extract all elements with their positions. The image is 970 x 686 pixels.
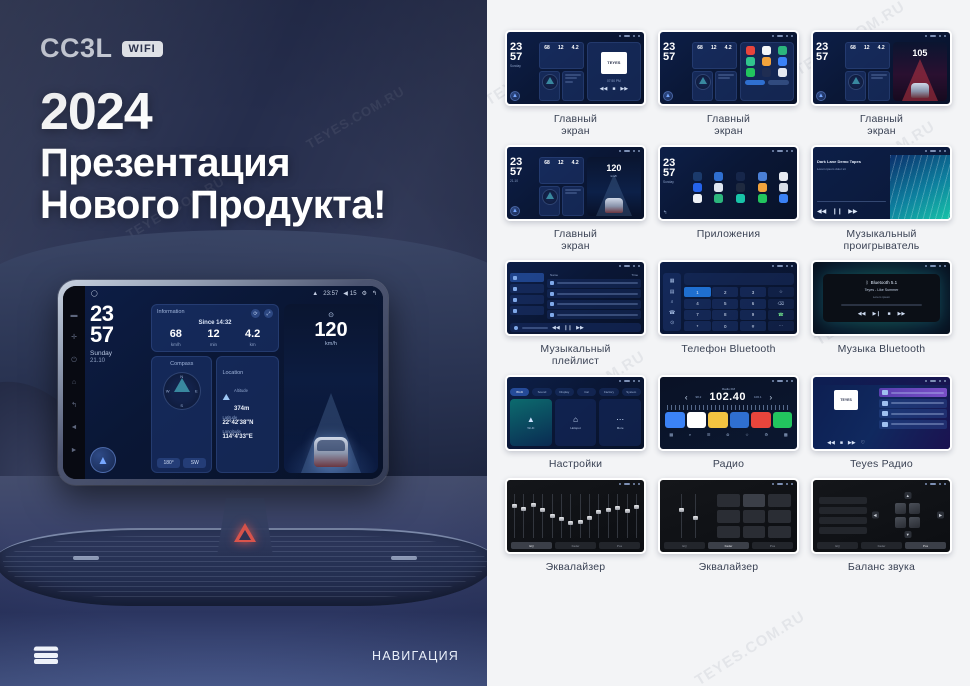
tab-sound[interactable]: Sound	[532, 388, 551, 396]
speed-panel[interactable]: ⊙ 120 km/h	[284, 304, 378, 473]
prev-station-button[interactable]: ‹	[685, 393, 688, 402]
eq-band[interactable]	[532, 494, 535, 538]
card-label: Wi-Fi	[527, 426, 534, 430]
option-row[interactable]	[819, 507, 867, 514]
tab-factory[interactable]: Factory	[599, 388, 618, 396]
thumb-clock-m: 57	[663, 168, 684, 178]
back-arrow-icon[interactable]: ↰	[372, 290, 377, 297]
left-frequency: 98.2	[695, 395, 701, 399]
preset-button[interactable]	[717, 494, 740, 507]
arrow-right-button[interactable]: ▶	[937, 512, 944, 519]
app-icon[interactable]	[762, 57, 771, 66]
arrow-up-button[interactable]: ▲	[904, 492, 911, 499]
screen-thumbnail-sound-balance[interactable]: ▲ ▼ ◀ ▶ EQ Fader Po	[811, 478, 952, 554]
app-icon[interactable]	[762, 68, 771, 77]
app-icon[interactable]	[778, 57, 787, 66]
plus-icon[interactable]: ✛	[71, 334, 77, 341]
gallery-item[interactable]: EQ Fader Pos Эквалайзер	[505, 478, 646, 575]
list-item[interactable]	[510, 295, 544, 304]
app-icon-music[interactable]	[736, 194, 745, 203]
clock-day: Sunday	[90, 350, 146, 357]
clock-minutes: 57	[90, 325, 146, 346]
eq-band[interactable]	[569, 494, 572, 538]
app-icon-clock[interactable]	[714, 183, 723, 192]
widgets-column: Information ⟳ ⤢ Since 14:32 68	[151, 304, 279, 473]
settings-card-wifi[interactable]: ▲ Wi-Fi	[510, 399, 552, 446]
prev-icon[interactable]: ◀◀	[827, 440, 835, 446]
gallery-item[interactable]: Wi-Fi Sound Display Car Factory System ▲…	[505, 375, 646, 472]
app-icon[interactable]	[762, 46, 771, 55]
search-icon[interactable]: ⌕	[689, 432, 691, 437]
screens-gallery-panel: TEYES.COM.RU TEYES.COM.RU TEYES.COM.RU T…	[487, 0, 970, 686]
list-item[interactable]	[510, 306, 544, 315]
tab-eq[interactable]: EQ	[817, 542, 858, 549]
stat-value: 4.2	[245, 329, 260, 340]
tab-car[interactable]: Car	[577, 388, 596, 396]
bottom-tab-bar[interactable]: EQ Fader Pos	[511, 542, 640, 549]
preset-stations[interactable]	[663, 412, 794, 428]
home-icon[interactable]: ⌂	[72, 379, 76, 386]
preset-tile[interactable]	[708, 412, 728, 428]
eq-band[interactable]	[560, 494, 563, 538]
dialpad-key[interactable]: 6	[740, 299, 766, 309]
app-icon-bluetooth[interactable]	[714, 172, 723, 181]
balance-options[interactable]	[819, 492, 867, 538]
prev-icon[interactable]: ◀◀	[817, 208, 826, 215]
thumb-date: 21.10	[510, 179, 536, 183]
power-icon[interactable]: ⏻	[71, 357, 77, 364]
preset-tile[interactable]	[773, 412, 793, 428]
compass-direction: SW	[183, 458, 206, 468]
thumb-day: Sunday	[663, 180, 684, 184]
screen-thumbnail-home-music[interactable]: 23 57 Sunday ▲ 68 12 4.2	[505, 30, 646, 106]
option-row[interactable]	[819, 527, 867, 534]
thumb-stat: 68	[544, 160, 550, 166]
dialpad-key[interactable]: 2	[712, 287, 738, 297]
eq-band[interactable]	[513, 494, 516, 538]
track-title: Dark Lane Demo Tapes	[817, 159, 886, 164]
refresh-icon[interactable]: ⟳	[251, 309, 260, 318]
stop-icon[interactable]: ■	[888, 311, 891, 317]
option-row[interactable]	[819, 497, 867, 504]
seat-front-left	[895, 503, 906, 514]
screen-thumbnail-playlist[interactable]: NameTime ◀◀ ❙❙ ▶▶	[505, 260, 646, 336]
station-list[interactable]	[879, 388, 947, 446]
vol-up-icon[interactable]: ►	[71, 447, 78, 454]
app-icon[interactable]	[746, 57, 755, 66]
table-row[interactable]	[547, 310, 641, 319]
settings-icon[interactable]: ⊙	[670, 320, 674, 326]
navigation-arrow-icon[interactable]: ▲	[510, 206, 520, 216]
headline-line1: Презентация	[40, 143, 386, 185]
slider-bass[interactable]	[680, 494, 684, 538]
eq-band[interactable]	[541, 494, 544, 538]
tab-wifi[interactable]: Wi-Fi	[510, 388, 529, 396]
navigation-arrow-icon[interactable]: ▲	[816, 91, 826, 101]
app-icon-files[interactable]	[758, 183, 767, 192]
compass-card[interactable]: Compass N E S W 180°	[151, 356, 212, 473]
gallery-item[interactable]: Radio FM ‹ 98.2 102.40 106.1 ›	[658, 375, 799, 472]
app-icon-equalizer[interactable]	[736, 183, 745, 192]
page-title: 2024 Презентация Нового Продукта!	[40, 85, 386, 226]
gallery-item[interactable]: 23 57 Sunday ↰	[658, 145, 799, 254]
preset-button[interactable]	[743, 510, 766, 523]
playlist-sidebar[interactable]	[510, 273, 544, 321]
eq-band[interactable]	[551, 494, 554, 538]
album-art: TEYES	[601, 52, 627, 74]
thumbnail-caption: Главныйэкран	[707, 113, 750, 137]
bt-version: Bluetooth 5.1	[871, 280, 898, 285]
back-icon[interactable]: ↰	[663, 210, 684, 216]
more-icon[interactable]: ⋯	[768, 321, 794, 331]
information-title: Information	[157, 309, 185, 315]
tab-eq[interactable]: EQ	[664, 542, 705, 549]
stop-icon[interactable]: ■	[612, 86, 615, 92]
next-station-button[interactable]: ›	[770, 393, 773, 402]
table-row[interactable]	[547, 289, 641, 298]
prev-icon[interactable]: ◀◀	[858, 311, 866, 317]
progress-bar[interactable]	[841, 304, 923, 306]
bottom-tab-bar[interactable]: EQ Fader Pos	[817, 542, 946, 549]
tuning-scale[interactable]	[667, 405, 790, 410]
seat-front-right	[909, 503, 920, 514]
thumbnail-caption: Радио	[713, 458, 744, 470]
preset-button[interactable]	[768, 526, 791, 539]
altitude-row: ⛰ Altitude 374m	[222, 379, 273, 415]
search-icon[interactable]: ⌕	[671, 299, 674, 305]
screen-thumbnail-bluetooth-music[interactable]: ᛒ Bluetooth 5.1 Teyes - Like Summer Lore…	[811, 260, 952, 336]
navigation-arrow-icon[interactable]: ▲	[663, 91, 673, 101]
dialpad-key[interactable]: 1	[684, 287, 710, 297]
thumb-stat: 68	[544, 45, 550, 51]
eq-band[interactable]	[626, 494, 629, 538]
settings-tabs[interactable]: Wi-Fi Sound Display Car Factory System	[510, 388, 641, 396]
eq-band[interactable]	[616, 494, 619, 538]
list-item[interactable]	[879, 388, 947, 397]
vol-down-icon[interactable]: ◄	[71, 424, 78, 431]
heart-icon[interactable]: ♡	[861, 440, 865, 446]
thumbnail-caption: Главныйэкран	[554, 228, 597, 252]
progress-bar[interactable]	[817, 201, 886, 203]
fav-icon[interactable]: ☆	[745, 432, 749, 437]
gallery-item[interactable]: Dark Lane Demo Tapes Lorem ipsum dolor s…	[811, 145, 952, 254]
compass-dial: N E S W	[163, 372, 201, 410]
next-icon[interactable]: ▶▶	[620, 86, 628, 92]
screen-thumbnail-home-apps[interactable]: 23 57 ▲ 68 12 4.2	[658, 30, 799, 106]
mountain-icon: ⛰	[222, 392, 230, 403]
equalizer-sliders[interactable]	[513, 494, 638, 538]
tab-pos[interactable]: Pos	[752, 542, 793, 549]
expand-icon[interactable]: ⤢	[264, 309, 273, 318]
preset-tile[interactable]	[730, 412, 750, 428]
stat-item: 4.2 km	[245, 329, 260, 347]
app-icon-aux[interactable]	[693, 172, 702, 181]
thumb-stat: 68	[697, 45, 703, 51]
app-icon[interactable]	[746, 68, 755, 77]
speed-value: 105	[893, 48, 947, 58]
next-icon[interactable]: ▶▶	[848, 440, 856, 446]
preset-button[interactable]	[743, 494, 766, 507]
head-unit-device: ▬ ✛ ⏻ ⌂ ↰ ◄ ► ◯ ▲ 23:57 ◀15 ⚙	[58, 280, 388, 485]
preset-button[interactable]	[768, 494, 791, 507]
right-frequency: 106.1	[754, 395, 762, 399]
tab-pos[interactable]: Pos	[905, 542, 946, 549]
bottom-tab-bar[interactable]: EQ Fader Pos	[664, 542, 793, 549]
grid-icon[interactable]: ▩	[784, 432, 788, 437]
dialpad-key[interactable]: 0	[712, 321, 738, 331]
preset-buttons[interactable]	[717, 494, 791, 538]
track-list[interactable]: NameTime	[547, 273, 641, 321]
screen-thumbnail-bluetooth-phone[interactable]: ▦ ▤ ⌕ ☎ ⊙ 1 2 3 ☆ 4	[658, 260, 799, 336]
vent-knob-left	[73, 556, 99, 560]
list-item[interactable]	[510, 284, 544, 293]
home-circle-icon[interactable]: ◯	[91, 290, 98, 297]
thumb-clock-m: 57	[663, 52, 689, 62]
arrow-left-button[interactable]: ◀	[872, 512, 879, 519]
screen-thumbnail-radio[interactable]: Radio FM ‹ 98.2 102.40 106.1 ›	[658, 375, 799, 451]
current-frequency: 102.40	[709, 391, 746, 403]
tab-display[interactable]: Display	[555, 388, 574, 396]
pill-button[interactable]	[745, 80, 766, 85]
seat-rear-left	[895, 517, 906, 528]
slider-treble[interactable]	[694, 494, 698, 538]
clock-column: 23 57 Sunday 21.10 ▲	[90, 304, 146, 473]
speed-unit: km/h	[325, 341, 337, 347]
compass-s: S	[180, 403, 183, 408]
tab-eq[interactable]: EQ	[511, 542, 552, 549]
car-model-3d	[314, 437, 348, 467]
now-playing-bar[interactable]: ◀◀ ❙❙ ▶▶	[510, 323, 641, 332]
gallery-item[interactable]: ᛒ Bluetooth 5.1 Teyes - Like Summer Lore…	[811, 260, 952, 369]
screen-thumbnail-music-player[interactable]: Dark Lane Demo Tapes Lorem ipsum dolor s…	[811, 145, 952, 221]
thumb-day: Sunday	[510, 64, 536, 68]
wifi-icon: ▲	[527, 415, 535, 424]
seat-grid	[895, 503, 920, 528]
compass-heading-cone	[174, 378, 190, 392]
gallery-item[interactable]: TEYES ◀◀ ■ ▶▶ ♡	[811, 375, 952, 472]
option-row[interactable]	[819, 517, 867, 524]
call-icon[interactable]: ☎	[768, 310, 794, 320]
favorite-icon[interactable]: ☆	[768, 287, 794, 297]
thumb-stat: 12	[711, 45, 717, 51]
album-art: TEYES	[834, 390, 858, 410]
hardware-button-strip[interactable]: ▬ ✛ ⏻ ⌂ ↰ ◄ ►	[63, 286, 85, 479]
thumb-stat: 4.2	[878, 45, 885, 51]
app-shortcuts-panel[interactable]	[740, 42, 794, 101]
wifi-icon: ▲	[312, 291, 318, 297]
album-label: TEYES	[607, 60, 620, 65]
stat-item: 12 min	[207, 329, 219, 347]
app-icon[interactable]	[778, 46, 787, 55]
eq-icon[interactable]: ⊜	[726, 432, 729, 437]
next-icon[interactable]: ▶▶	[576, 325, 584, 331]
stat-unit: min	[207, 342, 219, 347]
prev-icon[interactable]: ◀◀	[600, 86, 608, 92]
list-item[interactable]	[510, 273, 544, 282]
hero-footer: НАВИГАЦИЯ	[0, 626, 487, 686]
speed-value: 120	[314, 320, 347, 340]
thumb-stat: 4.2	[572, 45, 579, 51]
hazard-triangle-icon	[234, 523, 256, 542]
radio-toolbar[interactable]: ▦ ⌕ ☰ ⊜ ☆ ⚙ ▩	[663, 430, 794, 438]
settings-icon[interactable]: ⚙	[765, 432, 769, 437]
dialpad-key[interactable]: 8	[712, 310, 738, 320]
backspace-icon[interactable]: ⌫	[768, 299, 794, 309]
eq-band[interactable]	[522, 494, 525, 538]
preset-button[interactable]	[768, 510, 791, 523]
compass-w: W	[166, 389, 170, 394]
stop-icon[interactable]: ■	[840, 440, 843, 446]
dialpad-key[interactable]: *	[684, 321, 710, 331]
status-time: 23:57	[323, 291, 338, 297]
hotspot-icon: ⌂	[573, 415, 578, 424]
phone-sidebar[interactable]: ▦ ▤ ⌕ ☎ ⊙	[663, 273, 681, 331]
dialpad-key[interactable]: #	[740, 321, 766, 331]
minus-icon[interactable]: ▬	[71, 312, 78, 319]
table-row[interactable]	[547, 300, 641, 309]
app-icon-maps[interactable]	[714, 194, 723, 203]
app-icon-google[interactable]	[693, 194, 702, 203]
eq-band[interactable]	[579, 494, 582, 538]
screen-thumbnail-equalizer-bands[interactable]: EQ Fader Pos	[505, 478, 646, 554]
seat-balance-pad[interactable]: ▲ ▼ ◀ ▶	[872, 492, 945, 538]
preset-tile[interactable]	[665, 412, 685, 428]
next-icon[interactable]: ▶▶	[848, 208, 857, 215]
preset-button[interactable]	[717, 510, 740, 523]
gallery-item[interactable]: EQ Fader Pos Эквалайзер	[658, 478, 799, 575]
layers-icon[interactable]	[34, 646, 58, 666]
pause-icon[interactable]: ❙❙	[832, 208, 842, 215]
card-label: More	[617, 426, 624, 430]
band-icon[interactable]: ▦	[669, 432, 673, 437]
screen-thumbnail-apps[interactable]: 23 57 Sunday ↰	[658, 145, 799, 221]
music-widget[interactable]: TEYES 07:50 PM ◀◀ ■ ▶▶	[587, 42, 641, 101]
pill-button[interactable]	[768, 80, 789, 85]
dual-sliders[interactable]	[666, 494, 711, 538]
preset-tile[interactable]	[751, 412, 771, 428]
eq-band[interactable]	[588, 494, 591, 538]
tab-system[interactable]: System	[622, 388, 641, 396]
list-icon[interactable]: ☰	[707, 432, 711, 437]
preset-button[interactable]	[743, 526, 766, 539]
altitude-value: 374m	[234, 406, 249, 412]
app-icon-media[interactable]	[736, 172, 745, 181]
prev-icon[interactable]: ◀◀	[552, 325, 560, 331]
speed-panel[interactable]: 105	[893, 42, 947, 101]
gallery-item[interactable]: 23 57 Sunday ▲ 68 12 4.2	[505, 30, 646, 139]
preset-tile[interactable]	[687, 412, 707, 428]
tab-fader[interactable]: Fader	[555, 542, 596, 549]
gallery-item[interactable]: NameTime ◀◀ ❙❙ ▶▶ Музыкальныйплейлис	[505, 260, 646, 369]
tab-fader[interactable]: Fader	[861, 542, 902, 549]
gallery-item[interactable]: 23 57 ▲ 68 12 4.2	[811, 30, 952, 139]
settings-card-more[interactable]: ⋯ More	[599, 399, 641, 446]
app-icon-calculator[interactable]	[758, 172, 767, 181]
arrow-down-button[interactable]: ▼	[904, 531, 911, 538]
home-screen-body: 23 57 Sunday 21.10 ▲ Information	[85, 301, 383, 479]
app-icon[interactable]	[778, 68, 787, 77]
app-icon-camera[interactable]	[779, 172, 788, 181]
thumbnail-caption: Музыка Bluetooth	[838, 343, 926, 355]
head-unit-screen[interactable]: ◯ ▲ 23:57 ◀15 ⚙ ↰ 23 57 Sunday 21.1	[85, 286, 383, 479]
screen-thumbnail-teyes-radio[interactable]: TEYES ◀◀ ■ ▶▶ ♡	[811, 375, 952, 451]
keypad-icon[interactable]: ▦	[670, 278, 675, 284]
screen-thumbnail-equalizer-simple[interactable]: EQ Fader Pos	[658, 478, 799, 554]
app-icon-play-store[interactable]	[758, 194, 767, 203]
app-icon[interactable]	[746, 46, 755, 55]
speed-panel[interactable]: 120 km/h	[587, 157, 641, 216]
next-icon[interactable]: ▶▶	[898, 311, 906, 317]
screen-thumbnail-home-speed-red[interactable]: 23 57 ▲ 68 12 4.2	[811, 30, 952, 106]
screen-thumbnail-settings[interactable]: Wi-Fi Sound Display Car Factory System ▲…	[505, 375, 646, 451]
pause-icon[interactable]: ❙❙	[564, 325, 572, 331]
history-icon[interactable]: ☎	[669, 310, 675, 316]
gallery-item[interactable]: 23 57 21.10 ▲ 68 12 4.2	[505, 145, 646, 254]
table-row[interactable]	[547, 279, 641, 288]
app-icon-radio[interactable]	[779, 194, 788, 203]
eq-band[interactable]	[635, 494, 638, 538]
settings-card-hotspot[interactable]: ⌂ Hotspot	[555, 399, 597, 446]
dialpad-key[interactable]: 5	[712, 299, 738, 309]
dialpad-key[interactable]: 7	[684, 310, 710, 320]
contacts-icon[interactable]: ▤	[670, 289, 675, 295]
dialed-number-field[interactable]	[684, 273, 794, 285]
screen-thumbnail-home-speed[interactable]: 23 57 21.10 ▲ 68 12 4.2	[505, 145, 646, 221]
dialpad-key[interactable]: 3	[740, 287, 766, 297]
thumb-stat: 12	[558, 160, 564, 166]
headline-year: 2024	[40, 85, 386, 139]
play-pause-icon[interactable]: ▶❙	[872, 311, 880, 317]
dialpad[interactable]: 1 2 3 ☆ 4 5 6 ⌫ 7 8 9 ☎ *	[684, 287, 794, 331]
card-label: Hotspot	[570, 426, 580, 430]
navigation-arrow-icon[interactable]: ▲	[510, 91, 520, 101]
product-logo: CC3L WIFI	[40, 33, 163, 64]
location-card[interactable]: Location ⛰ Altitude 374m	[216, 356, 279, 473]
longitude-value: 114°4'33"E	[222, 434, 273, 440]
more-icon: ⋯	[616, 415, 624, 424]
widgets-row: Compass N E S W 180°	[151, 356, 279, 473]
logo-text: CC3L	[40, 33, 113, 64]
list-item[interactable]	[879, 409, 947, 418]
app-icon-chrome[interactable]	[693, 183, 702, 192]
gear-icon[interactable]: ⚙	[362, 290, 367, 297]
thumbnail-caption: Эквалайзер	[546, 561, 606, 573]
dialpad-key[interactable]: 4	[684, 299, 710, 309]
trip-stats: 68 km/h 12 min 4.2 km	[157, 329, 273, 347]
eq-band[interactable]	[607, 494, 610, 538]
information-card[interactable]: Information ⟳ ⤢ Since 14:32 68	[151, 304, 279, 352]
list-item[interactable]	[879, 420, 947, 429]
speed-value: 120	[587, 163, 641, 173]
thumbnail-caption: Музыкальныйплейлист	[540, 343, 610, 367]
list-item[interactable]	[879, 399, 947, 408]
gallery-item[interactable]: ▦ ▤ ⌕ ☎ ⊙ 1 2 3 ☆ 4	[658, 260, 799, 369]
tab-pos[interactable]: Pos	[599, 542, 640, 549]
dialpad-key[interactable]: 9	[740, 310, 766, 320]
gallery-item[interactable]: 23 57 ▲ 68 12 4.2	[658, 30, 799, 139]
eq-band[interactable]	[597, 494, 600, 538]
back-icon[interactable]: ↰	[71, 402, 77, 409]
navigation-arrow-icon[interactable]: ▲	[90, 447, 116, 473]
tab-fader[interactable]: Fader	[708, 542, 749, 549]
hazard-button[interactable]	[217, 498, 273, 556]
preset-button[interactable]	[717, 526, 740, 539]
thumb-stat: 4.2	[572, 160, 579, 166]
thumbnail-caption: Телефон Bluetooth	[681, 343, 775, 355]
gallery-item[interactable]: ▲ ▼ ◀ ▶ EQ Fader Po	[811, 478, 952, 575]
app-icon-gallery[interactable]	[779, 183, 788, 192]
app-drawer-grid[interactable]	[687, 158, 794, 216]
